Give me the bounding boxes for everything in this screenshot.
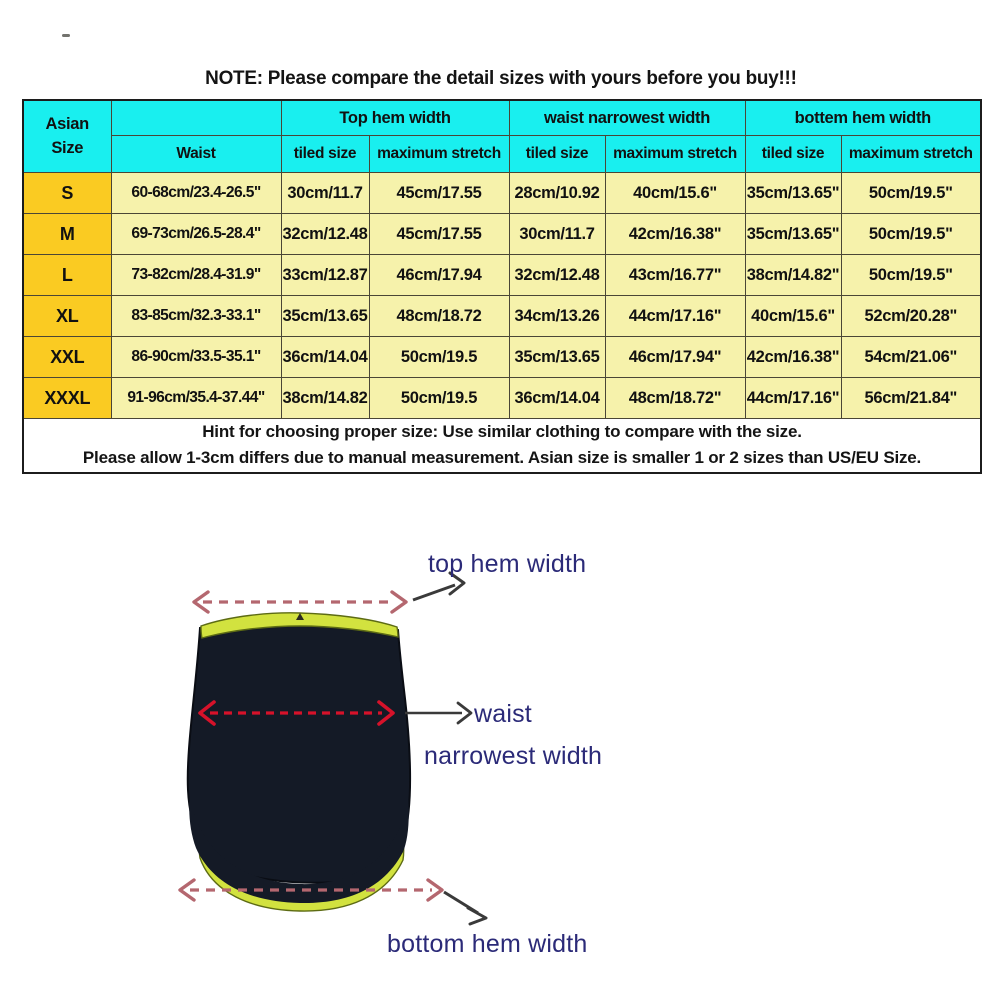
cell-bottom-stretch: 54cm/21.06": [841, 337, 981, 378]
label-narrowest-width: narrowest width: [424, 742, 602, 771]
cell-bottom-stretch: 56cm/21.84": [841, 378, 981, 419]
note-banner: NOTE: Please compare the detail sizes wi…: [22, 58, 980, 98]
table-header-row-groups: Asian Size Top hem width waist narrowest…: [23, 100, 981, 136]
size-chart-page: NOTE: Please compare the detail sizes wi…: [0, 0, 1001, 1001]
cell-top-stretch: 50cm/19.5: [369, 337, 509, 378]
header-group-bottom-hem: bottem hem width: [745, 100, 981, 136]
cell-waist: 69-73cm/26.5-28.4": [111, 214, 281, 255]
cell-size: S: [23, 173, 111, 214]
header-waist-maximum-stretch: maximum stretch: [605, 136, 745, 173]
table-header-row-sub: Waist tiled size maximum stretch tiled s…: [23, 136, 981, 173]
cell-bottom-tiled: 40cm/15.6": [745, 296, 841, 337]
cell-size: XXL: [23, 337, 111, 378]
hint-line-2: Please allow 1-3cm differs due to manual…: [24, 445, 980, 471]
table-row: XXXL 91-96cm/35.4-37.44" 38cm/14.82 50cm…: [23, 378, 981, 419]
bottom-hem-pointer: [444, 892, 486, 924]
header-asian-line2: Size: [51, 139, 83, 157]
header-bottom-tiled-size: tiled size: [745, 136, 841, 173]
table-row: XXL 86-90cm/33.5-35.1" 36cm/14.04 50cm/1…: [23, 337, 981, 378]
table-head: Asian Size Top hem width waist narrowest…: [23, 100, 981, 173]
cell-waist: 83-85cm/32.3-33.1": [111, 296, 281, 337]
table-body: S 60-68cm/23.4-26.5" 30cm/11.7 45cm/17.5…: [23, 173, 981, 473]
label-top-hem-width: top hem width: [428, 550, 586, 579]
cell-waist-tiled: 28cm/10.92: [509, 173, 605, 214]
cell-bottom-tiled: 38cm/14.82": [745, 255, 841, 296]
cell-bottom-tiled: 35cm/13.65": [745, 173, 841, 214]
header-top-tiled-size: tiled size: [281, 136, 369, 173]
cell-top-stretch: 45cm/17.55: [369, 214, 509, 255]
cell-top-stretch: 48cm/18.72: [369, 296, 509, 337]
cell-top-stretch: 50cm/19.5: [369, 378, 509, 419]
cell-waist-stretch: 48cm/18.72": [605, 378, 745, 419]
cell-bottom-tiled: 44cm/17.16": [745, 378, 841, 419]
cell-top-tiled: 33cm/12.87: [281, 255, 369, 296]
hint-line-1: Hint for choosing proper size: Use simil…: [24, 419, 980, 445]
size-table-container: Asian Size Top hem width waist narrowest…: [22, 99, 980, 474]
cell-waist-stretch: 42cm/16.38": [605, 214, 745, 255]
label-bottom-hem-width: bottom hem width: [387, 930, 588, 959]
header-group-top-hem: Top hem width: [281, 100, 509, 136]
header-asian-size: Asian Size: [23, 100, 111, 173]
cell-bottom-stretch: 52cm/20.28": [841, 296, 981, 337]
header-group-waist-narrowest: waist narrowest width: [509, 100, 745, 136]
cell-waist-tiled: 34cm/13.26: [509, 296, 605, 337]
image-speck-artifact: [62, 34, 70, 37]
table-row: XL 83-85cm/32.3-33.1" 35cm/13.65 48cm/18…: [23, 296, 981, 337]
cell-top-tiled: 35cm/13.65: [281, 296, 369, 337]
cell-top-tiled: 38cm/14.82: [281, 378, 369, 419]
cell-top-stretch: 46cm/17.94: [369, 255, 509, 296]
cell-size: XXXL: [23, 378, 111, 419]
cell-waist-stretch: 46cm/17.94": [605, 337, 745, 378]
cell-waist-stretch: 40cm/15.6": [605, 173, 745, 214]
cell-top-tiled: 32cm/12.48: [281, 214, 369, 255]
cell-top-tiled: 36cm/14.04: [281, 337, 369, 378]
table-row: L 73-82cm/28.4-31.9" 33cm/12.87 46cm/17.…: [23, 255, 981, 296]
table-row: S 60-68cm/23.4-26.5" 30cm/11.7 45cm/17.5…: [23, 173, 981, 214]
cell-waist-tiled: 35cm/13.65: [509, 337, 605, 378]
cell-size: L: [23, 255, 111, 296]
cell-bottom-stretch: 50cm/19.5": [841, 214, 981, 255]
cell-waist: 86-90cm/33.5-35.1": [111, 337, 281, 378]
hint-cell: Hint for choosing proper size: Use simil…: [23, 419, 981, 473]
header-blank-above-waist: [111, 100, 281, 136]
cell-waist: 91-96cm/35.4-37.44": [111, 378, 281, 419]
table-row: M 69-73cm/26.5-28.4" 32cm/12.48 45cm/17.…: [23, 214, 981, 255]
size-table: Asian Size Top hem width waist narrowest…: [22, 99, 982, 474]
header-asian-line1: Asian: [46, 115, 89, 133]
cell-bottom-stretch: 50cm/19.5": [841, 173, 981, 214]
cell-top-stretch: 45cm/17.55: [369, 173, 509, 214]
cell-bottom-stretch: 50cm/19.5": [841, 255, 981, 296]
cell-waist-stretch: 44cm/17.16": [605, 296, 745, 337]
header-top-maximum-stretch: maximum stretch: [369, 136, 509, 173]
header-waist: Waist: [111, 136, 281, 173]
cell-waist-stretch: 43cm/16.77": [605, 255, 745, 296]
cell-waist-tiled: 36cm/14.04: [509, 378, 605, 419]
table-hint-row: Hint for choosing proper size: Use simil…: [23, 419, 981, 473]
cell-waist: 60-68cm/23.4-26.5": [111, 173, 281, 214]
cell-size: M: [23, 214, 111, 255]
waist-pointer: [405, 703, 471, 723]
cell-bottom-tiled: 35cm/13.65": [745, 214, 841, 255]
header-waist-tiled-size: tiled size: [509, 136, 605, 173]
note-text: NOTE: Please compare the detail sizes wi…: [205, 67, 797, 90]
cell-top-tiled: 30cm/11.7: [281, 173, 369, 214]
garment-body-shape: [188, 622, 410, 883]
cell-waist-tiled: 32cm/12.48: [509, 255, 605, 296]
cell-size: XL: [23, 296, 111, 337]
top-hem-measure-arrow: [194, 592, 406, 612]
label-waist: waist: [474, 700, 532, 729]
header-bottom-maximum-stretch: maximum stretch: [841, 136, 981, 173]
cell-waist-tiled: 30cm/11.7: [509, 214, 605, 255]
cell-bottom-tiled: 42cm/16.38": [745, 337, 841, 378]
cell-waist: 73-82cm/28.4-31.9": [111, 255, 281, 296]
